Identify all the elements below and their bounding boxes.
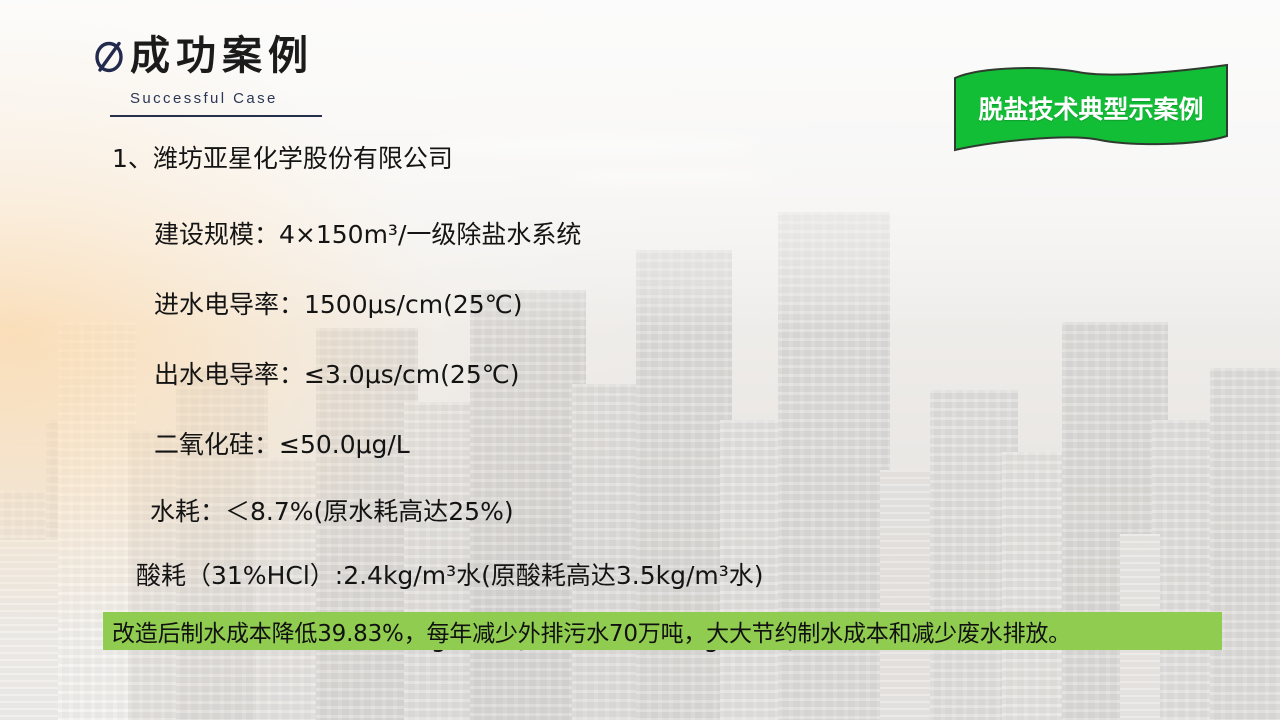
summary-highlight-bar: 改造后制水成本降低39.83%，每年减少外排污水70万吨，大大节约制水成本和减少… <box>103 612 1222 650</box>
case-detail-list: 1、潍坊亚星化学股份有限公司 建设规模：4×150m³/一级除盐水系统 进水电导… <box>112 140 1232 655</box>
page-subtitle: Successful Case <box>130 90 322 107</box>
page-title: 成功案例 <box>130 36 314 76</box>
slide-canvas: 成功案例 Successful Case 脱盐技术典型示案例 1、潍坊亚星化学股… <box>0 0 1280 720</box>
title-row: 成功案例 <box>92 36 322 76</box>
slide-header: 成功案例 Successful Case <box>92 36 322 117</box>
detail-line-silica: 二氧化硅：≤50.0μg/L <box>112 391 1232 461</box>
detail-line-inlet-cond: 进水电导率：1500μs/cm(25℃) <box>112 251 1232 321</box>
title-divider <box>110 115 322 117</box>
detail-line-acid-use: 酸耗（31%HCl）:2.4kg/m³水(原酸耗高达3.5kg/m³水) <box>112 528 1232 592</box>
detail-line-outlet-cond: 出水电导率：≤3.0μs/cm(25℃) <box>112 321 1232 391</box>
case-heading: 1、潍坊亚星化学股份有限公司 <box>112 140 1232 171</box>
slide-content: 成功案例 Successful Case 脱盐技术典型示案例 1、潍坊亚星化学股… <box>0 0 1280 720</box>
detail-line-water-use: 水耗：＜8.7%(原水耗高达25%) <box>112 461 1232 528</box>
slashed-circle-icon <box>92 36 126 76</box>
summary-text: 改造后制水成本降低39.83%，每年减少外排污水70万吨，大大节约制水成本和减少… <box>103 614 1071 648</box>
detail-line-scale: 建设规模：4×150m³/一级除盐水系统 <box>112 171 1232 251</box>
ribbon-label: 脱盐技术典型示案例 <box>952 90 1230 126</box>
